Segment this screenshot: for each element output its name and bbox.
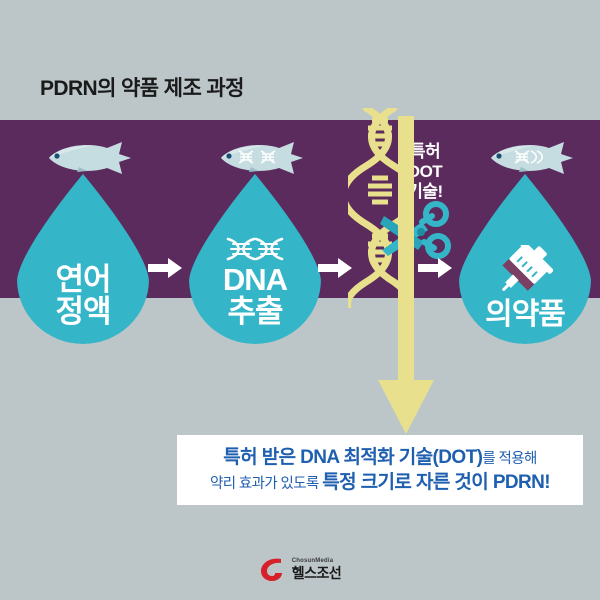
caption-line-2-bold: 특정 크기로 자른 것이 PDRN! [322, 472, 550, 493]
logo-text: ChosunMedia 헬스조선 [292, 558, 342, 580]
down-arrow [358, 116, 454, 438]
droplet-salmon-milt: 연어 정액 [17, 174, 149, 344]
droplet-dna-extraction: DNA 추출 [189, 174, 321, 344]
caption-line-1-rest: 를 적용해 [482, 451, 536, 467]
infographic-poster: PDRN의 약품 제조 과정 연어 정액 [0, 0, 600, 600]
brand-logo: ChosunMedia 헬스조선 [0, 556, 600, 582]
flow-arrow-2 [318, 258, 352, 278]
logo-bottom-text: 헬스조선 [292, 566, 342, 580]
caption-line-1: 특허 받은 DNA 최적화 기술(DOT)를 적용해 [223, 445, 536, 470]
droplet-label-dna-extraction: DNA 추출 [223, 264, 287, 328]
caption-line-2: 약리 효과가 있도록 특정 크기로 자른 것이 PDRN! [210, 470, 550, 495]
logo-top-text: ChosunMedia [292, 558, 342, 564]
droplet-medicine: 의약품 [459, 174, 591, 344]
caption-box: 특허 받은 DNA 최적화 기술(DOT)를 적용해 약리 효과가 있도록 특정… [177, 435, 583, 505]
dna-helix-icon [224, 236, 286, 262]
chosun-media-mark-icon [259, 556, 285, 582]
caption-line-1-bold: 특허 받은 DNA 최적화 기술(DOT) [223, 447, 482, 468]
syringe-icon [497, 245, 553, 297]
flow-arrow-1 [148, 258, 182, 278]
droplet-label-salmon-milt: 연어 정액 [55, 264, 110, 328]
process-stage: 연어 정액 [0, 0, 600, 600]
fish-icon [469, 140, 581, 176]
fish-icon [199, 140, 311, 176]
droplet-label-medicine: 의약품 [485, 299, 565, 330]
caption-line-2-light: 약리 효과가 있도록 [210, 476, 322, 492]
fish-icon [27, 140, 139, 176]
